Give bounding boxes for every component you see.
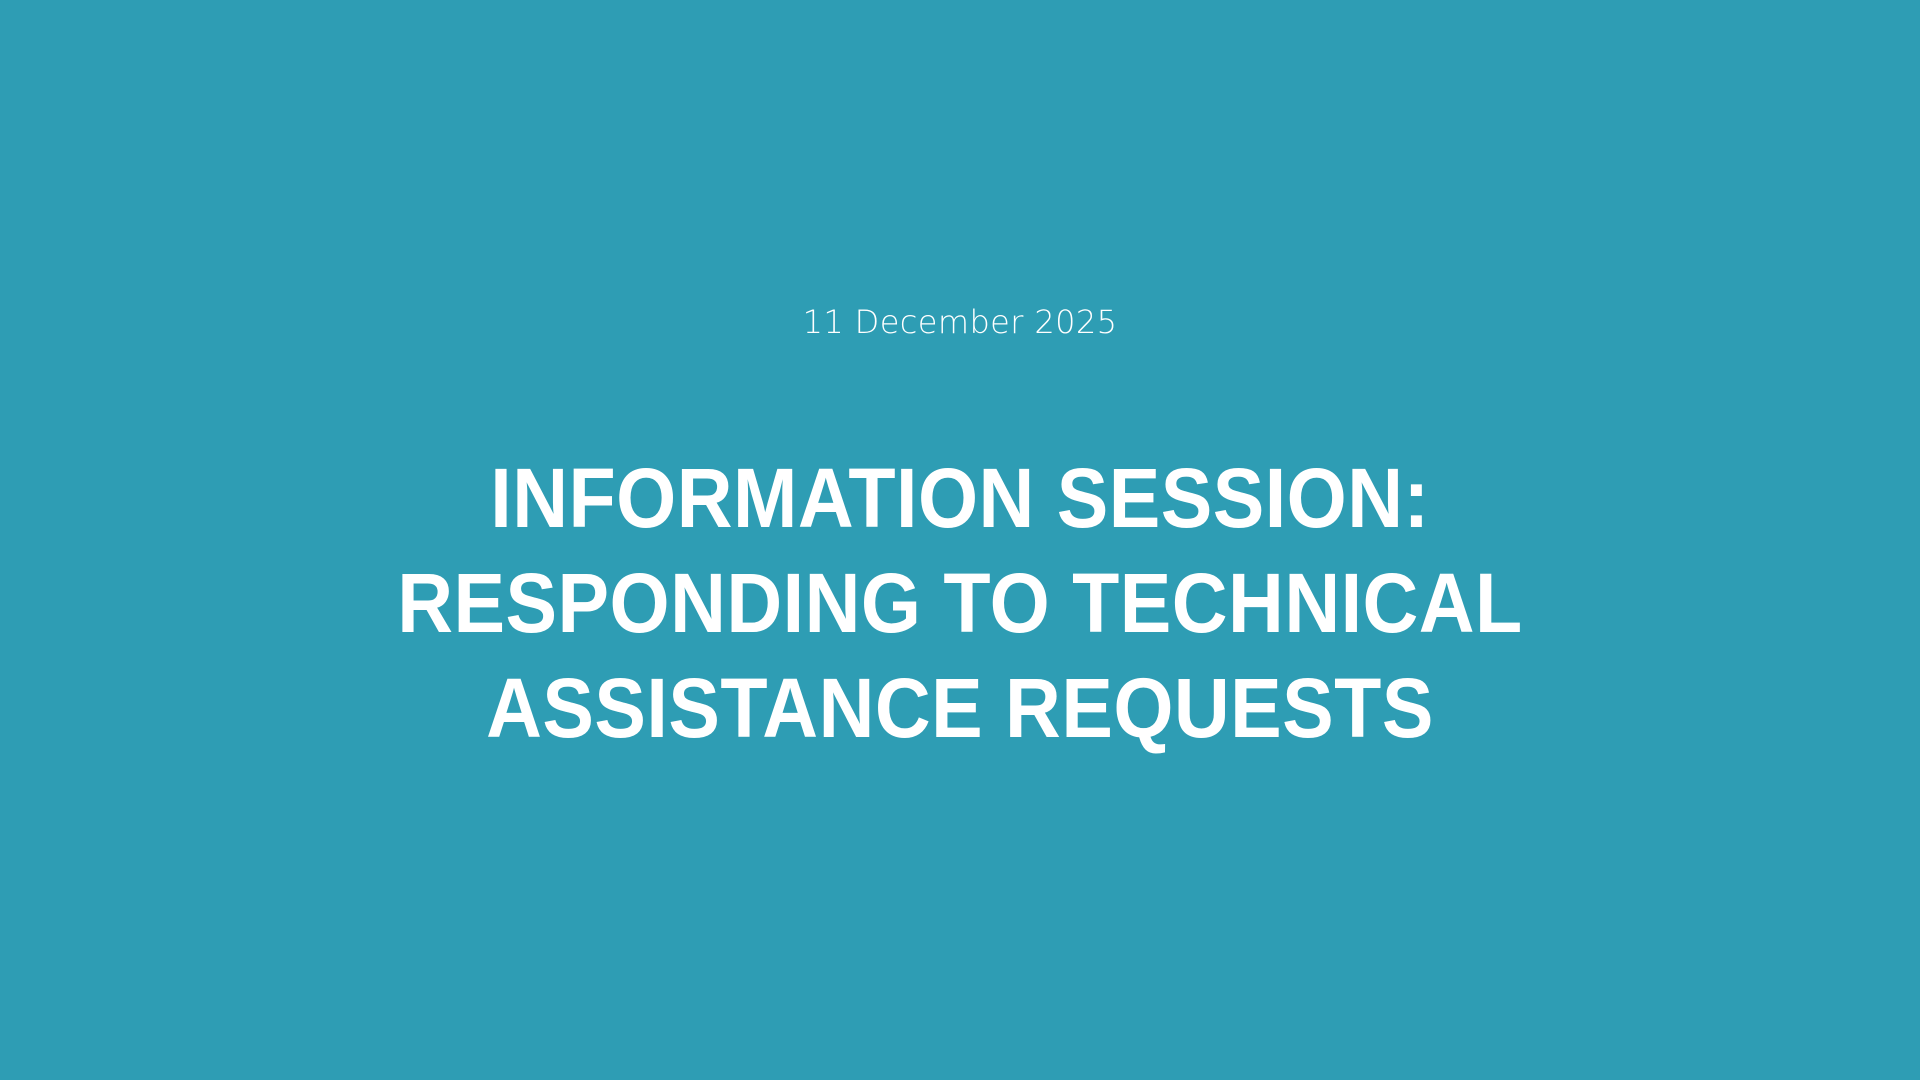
slide-content: 11 December 2025 INFORMATION SESSION: RE… [0,0,1920,1080]
title-slide: 11 December 2025 INFORMATION SESSION: RE… [0,0,1920,1080]
title-line-1: INFORMATION SESSION: [348,446,1572,551]
slide-date: 11 December 2025 [803,306,1118,338]
slide-title: INFORMATION SESSION: RESPONDING TO TECHN… [295,446,1625,761]
title-line-3: ASSISTANCE REQUESTS [348,656,1572,761]
title-line-2: RESPONDING TO TECHNICAL [348,551,1572,656]
